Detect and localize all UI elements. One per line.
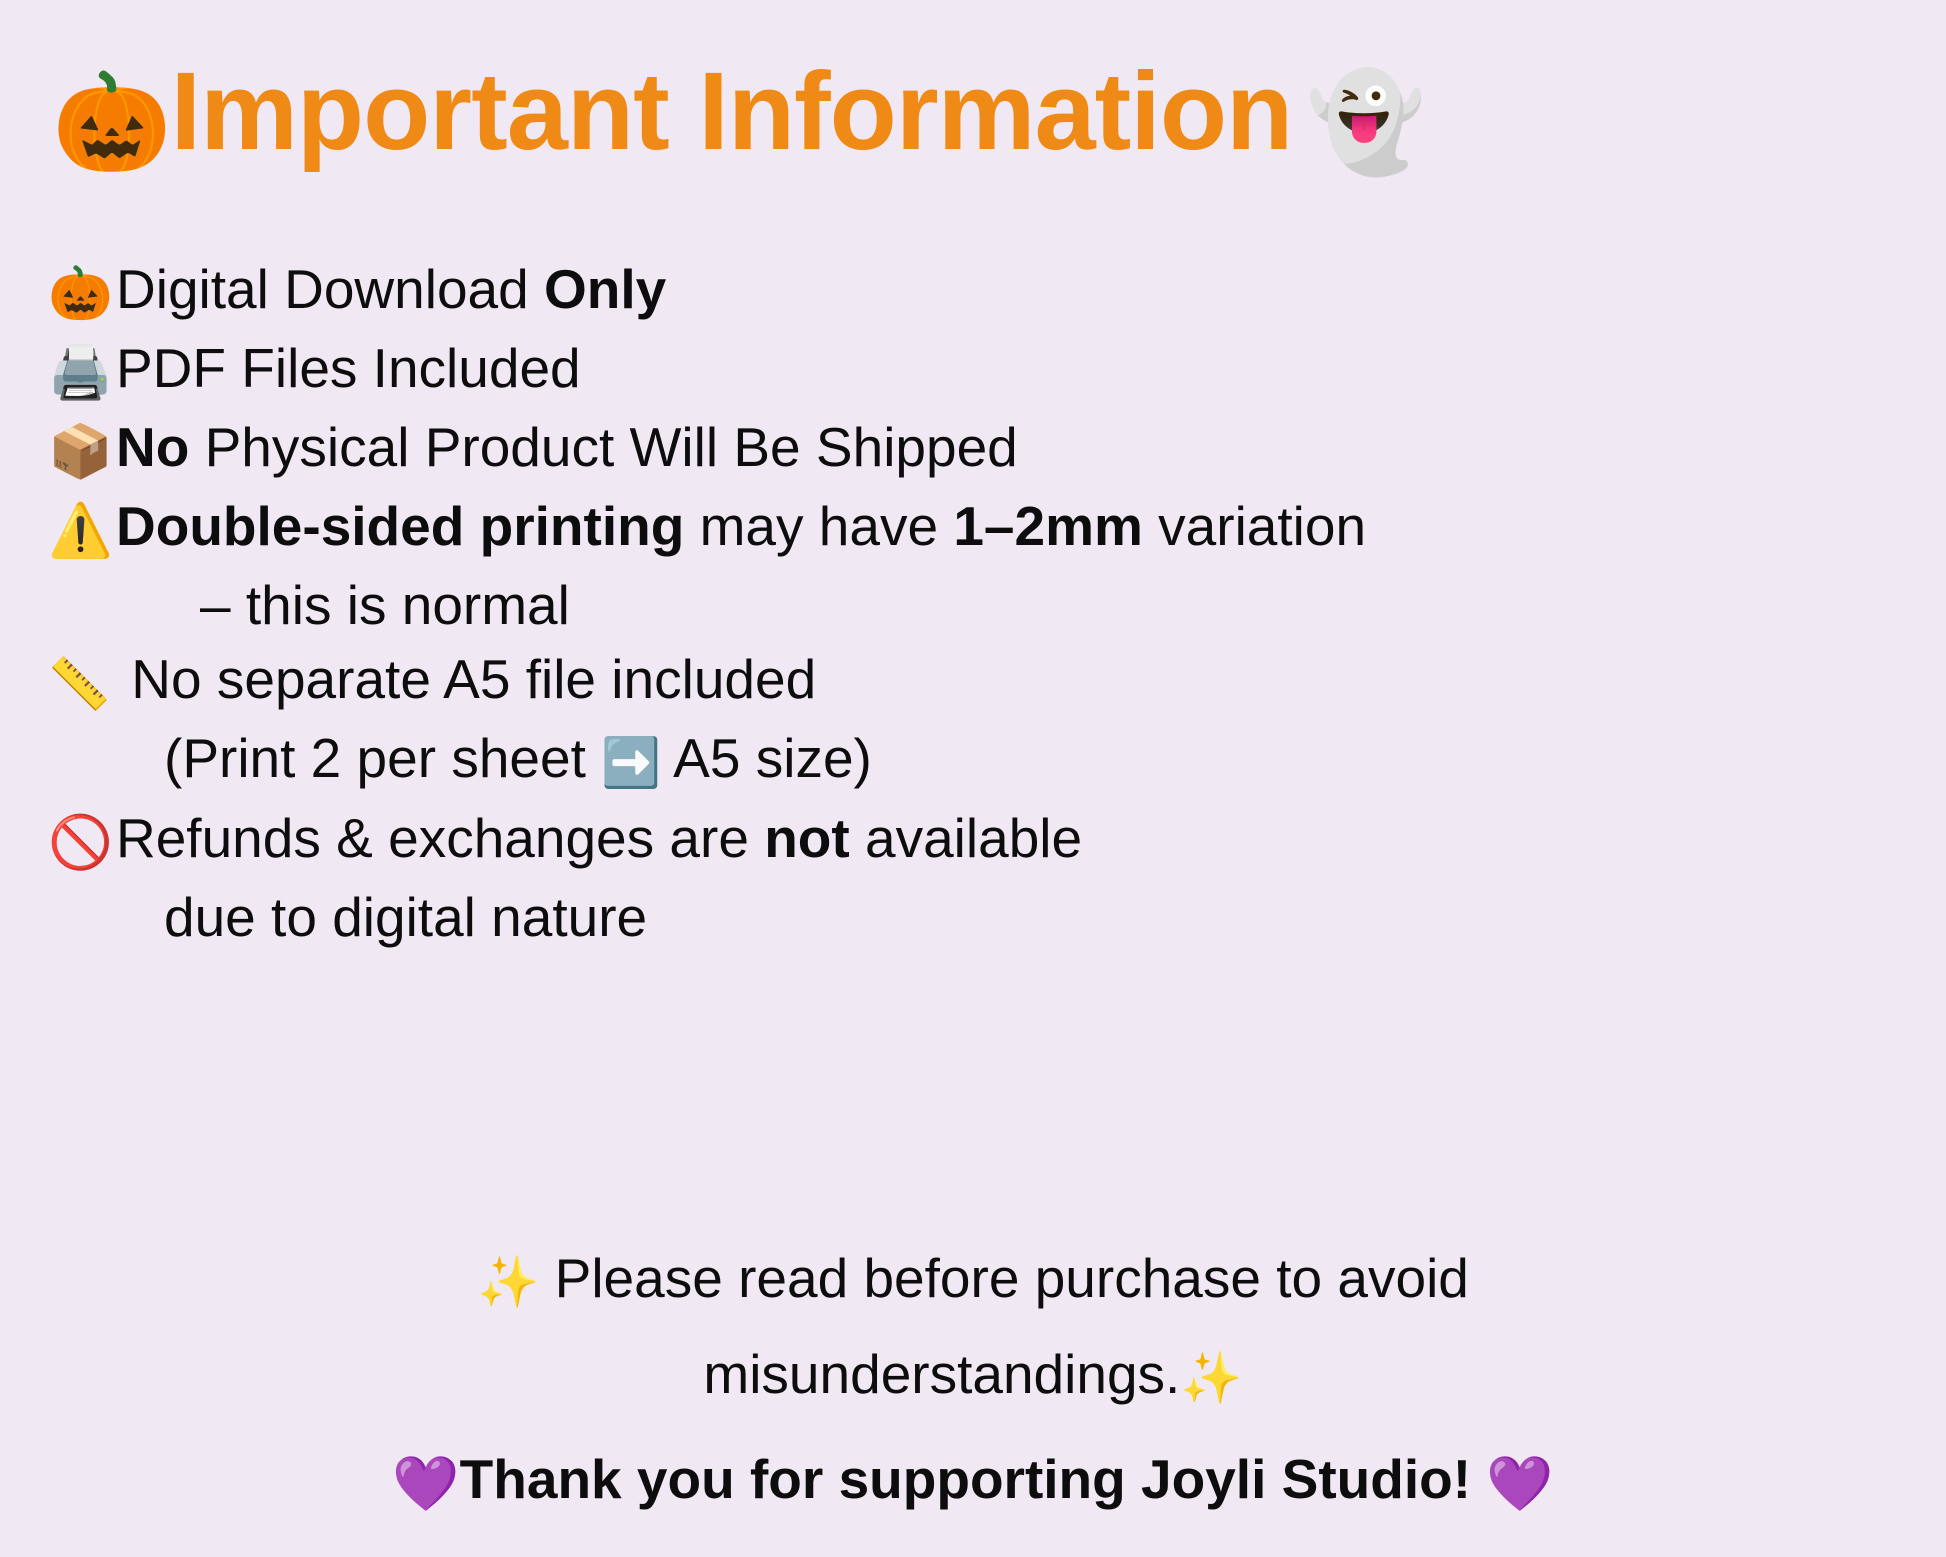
list-item-text: PDF Files Included — [116, 337, 581, 399]
page-title-text: Important Information — [171, 50, 1293, 173]
list-item-text: A5 size) — [661, 727, 872, 789]
list-item-digital-download: 🎃Digital Download Only — [48, 252, 1888, 331]
list-item-text: (Print 2 per sheet — [164, 727, 601, 789]
ruler-icon: 📏 — [48, 647, 116, 721]
list-item-text: may have — [684, 495, 953, 557]
pumpkin-icon: 🎃 — [52, 69, 171, 176]
prohibited-icon: 🚫 — [48, 806, 116, 880]
list-item-refunds: 🚫Refunds & exchanges are not available — [48, 801, 1888, 880]
warning-icon: ⚠️ — [48, 494, 116, 568]
info-page: 🎃Important Information👻 🎃Digital Downloa… — [0, 0, 1946, 1557]
pumpkin-icon: 🎃 — [48, 257, 116, 331]
list-item-double-sided-printing: ⚠️Double-sided printing may have 1–2mm v… — [48, 489, 1888, 568]
footer-thanks-line: 💜Thank you for supporting Joyli Studio! … — [0, 1430, 1946, 1533]
list-item-a5-continuation: (Print 2 per sheet ➡️ A5 size) — [48, 721, 1888, 801]
footer-note-text: misunderstandings. — [703, 1343, 1180, 1405]
list-item-pdf-files: 🖨️PDF Files Included — [48, 331, 1888, 410]
list-item-text: Physical Product Will Be Shipped — [189, 416, 1017, 478]
list-item-emphasis: Double-sided printing — [116, 495, 684, 557]
info-list: 🎃Digital Download Only 🖨️PDF Files Inclu… — [48, 252, 1888, 954]
list-item-text: available — [850, 807, 1082, 869]
footer-note-line-2: misunderstandings.✨ — [0, 1328, 1946, 1424]
footer-note-text: Please read before purchase to avoid — [555, 1247, 1469, 1309]
package-icon: 📦 — [48, 415, 116, 489]
list-item-text: No separate A5 file included — [116, 648, 816, 710]
footer-note-line-1: ✨ Please read before purchase to avoid — [0, 1232, 1946, 1328]
sparkles-icon: ✨ — [477, 1254, 539, 1310]
page-title: 🎃Important Information👻 — [52, 48, 1912, 187]
list-item-text: Digital Download — [116, 258, 544, 320]
list-item-no-a5-file: 📏 No separate A5 file included — [48, 642, 1888, 721]
list-item-double-sided-continuation: – this is normal — [48, 568, 1888, 642]
ghost-icon: 👻 — [1306, 69, 1425, 176]
list-item-emphasis: No — [116, 416, 189, 478]
purple-heart-icon: 💜 — [392, 1454, 459, 1514]
list-item-emphasis-measure: 1–2mm — [953, 495, 1143, 557]
purple-heart-icon: 💜 — [1486, 1454, 1553, 1514]
list-item-text: Refunds & exchanges are — [116, 807, 764, 869]
list-item-emphasis: Only — [544, 258, 666, 320]
list-item-no-physical-product: 📦No Physical Product Will Be Shipped — [48, 410, 1888, 489]
printer-icon: 🖨️ — [48, 336, 116, 410]
sparkles-icon: ✨ — [1180, 1350, 1242, 1406]
list-item-text: variation — [1143, 495, 1366, 557]
footer-thanks-text: Thank you for supporting Joyli Studio! — [460, 1448, 1471, 1510]
list-item-emphasis: not — [764, 807, 850, 869]
footer: ✨ Please read before purchase to avoid m… — [0, 1232, 1946, 1533]
list-item-refunds-continuation: due to digital nature — [48, 880, 1888, 954]
right-arrow-icon: ➡️ — [601, 737, 661, 790]
